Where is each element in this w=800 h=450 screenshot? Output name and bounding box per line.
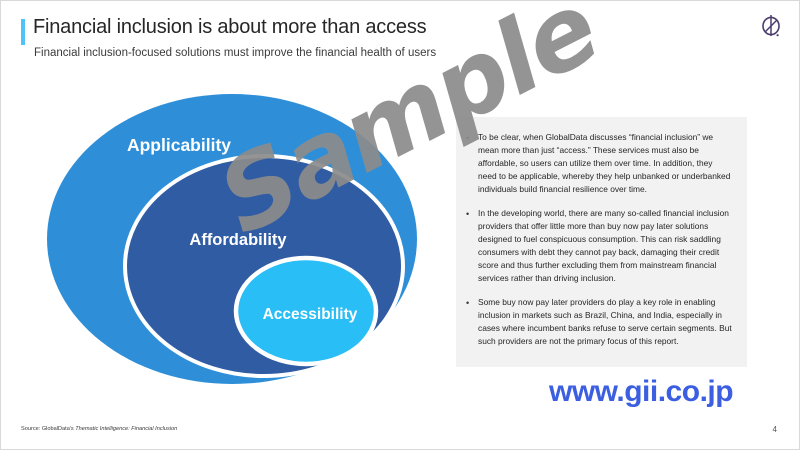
commentary-panel: • To be clear, when GlobalData discusses… (456, 117, 747, 367)
slide-canvas: Financial inclusion is about more than a… (0, 0, 800, 450)
page-title: Financial inclusion is about more than a… (33, 16, 426, 39)
bullet-text: In the developing world, there are many … (478, 207, 733, 285)
list-item: • To be clear, when GlobalData discusses… (466, 131, 733, 196)
label-applicability: Applicability (127, 135, 231, 155)
title-accent-bar (21, 19, 25, 45)
source-prefix: Source: GlobalData's (21, 426, 75, 432)
slide-header: Financial inclusion is about more than a… (1, 1, 800, 73)
bullet-text: Some buy now pay later providers do play… (478, 296, 733, 348)
source-note: Source: GlobalData's Thematic Intelligen… (21, 426, 177, 432)
label-affordability: Affordability (189, 231, 287, 249)
url-watermark: www.gii.co.jp (549, 375, 733, 409)
page-number: 4 (773, 425, 777, 434)
list-item: • Some buy now pay later providers do pl… (466, 296, 733, 348)
source-title: Thematic Intelligence: Financial Inclusi… (75, 426, 177, 432)
page-subtitle: Financial inclusion-focused solutions mu… (34, 47, 436, 59)
globaldata-logo-icon (758, 11, 784, 39)
nested-ellipse-diagram: Applicability Affordability Accessibilit… (36, 79, 456, 404)
bullet-text: To be clear, when GlobalData discusses “… (478, 131, 733, 196)
label-accessibility: Accessibility (263, 306, 358, 323)
bullet-glyph: • (466, 131, 478, 196)
list-item: • In the developing world, there are man… (466, 207, 733, 285)
bullet-glyph: • (466, 207, 478, 285)
bullet-glyph: • (466, 296, 478, 348)
